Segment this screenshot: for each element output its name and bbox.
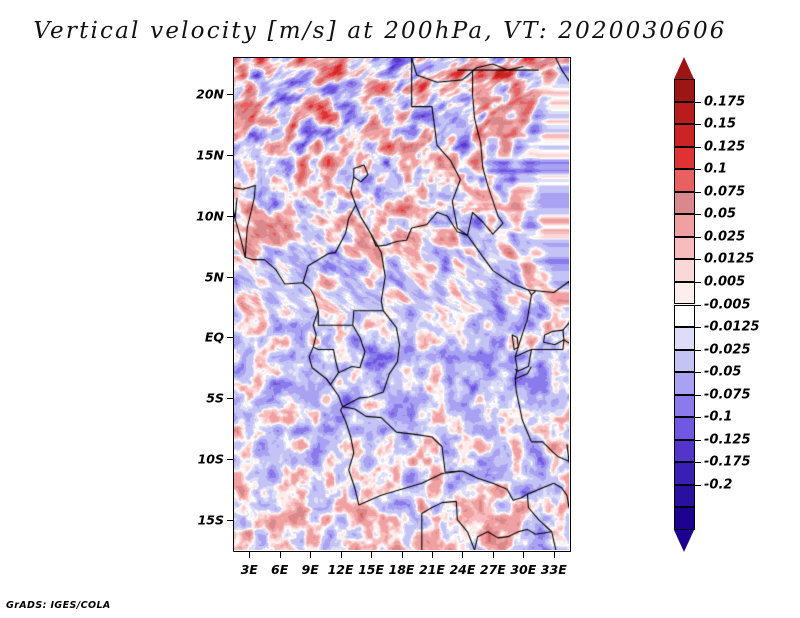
- colorbar-tick: [695, 440, 701, 441]
- colorbar-label: -0.2: [704, 477, 732, 492]
- longitude-tick: [462, 551, 463, 558]
- longitude-label: 24E: [449, 562, 475, 577]
- colorbar-swatch: [674, 417, 695, 440]
- latitude-label: 10S: [198, 451, 224, 466]
- colorbar-label: 0.175: [704, 94, 745, 109]
- longitude-label: 21E: [419, 562, 445, 577]
- colorbar-tick: [695, 350, 701, 351]
- longitude-label: 33E: [541, 562, 567, 577]
- longitude-label: 27E: [480, 562, 506, 577]
- latitude-label: 15S: [198, 512, 224, 527]
- longitude-tick: [554, 551, 555, 558]
- longitude-label: 9E: [302, 562, 319, 577]
- map-plot-area: 20N15N10N5NEQ5S10S15S3E6E9E12E15E18E21E2…: [233, 57, 571, 552]
- colorbar-label: -0.025: [704, 342, 751, 357]
- colorbar-swatch: [674, 124, 695, 147]
- colorbar-label: -0.075: [704, 387, 751, 402]
- longitude-tick: [402, 551, 403, 558]
- vertical-velocity-field: [234, 58, 569, 550]
- latitude-tick: [227, 94, 234, 95]
- longitude-label: 18E: [389, 562, 415, 577]
- longitude-label: 30E: [510, 562, 536, 577]
- colorbar-tick: [695, 372, 701, 373]
- longitude-tick: [280, 551, 281, 558]
- colorbar-label: -0.0125: [704, 320, 760, 335]
- colorbar-label: 0.05: [704, 207, 736, 222]
- colorbar-tick: [695, 147, 701, 148]
- colorbar-tick: [695, 237, 701, 238]
- colorbar-tick: [695, 417, 701, 418]
- longitude-tick: [249, 551, 250, 558]
- longitude-tick: [523, 551, 524, 558]
- latitude-label: EQ: [205, 330, 224, 345]
- colorbar-swatch: [674, 462, 695, 485]
- colorbar-max-arrow: [674, 57, 694, 79]
- latitude-label: 15N: [196, 148, 224, 163]
- page-title: Vertical velocity [m/s] at 200hPa, VT: 2…: [0, 18, 760, 44]
- colorbar-swatch: [674, 327, 695, 350]
- colorbar-label: -0.1: [704, 410, 732, 425]
- colorbar-swatch: [674, 282, 695, 305]
- colorbar-label: -0.005: [704, 297, 751, 312]
- colorbar-label: 0.0125: [704, 252, 754, 267]
- colorbar-label: -0.125: [704, 432, 751, 447]
- colorbar-swatch: [674, 372, 695, 395]
- colorbar-swatch: [674, 147, 695, 170]
- colorbar-label: 0.15: [704, 117, 736, 132]
- attribution-footer: GrADS: IGES/COLA: [6, 600, 111, 611]
- colorbar-label: 0.125: [704, 139, 745, 154]
- colorbar-label: 0.025: [704, 229, 745, 244]
- colorbar-label: -0.05: [704, 365, 741, 380]
- colorbar-swatch: [674, 395, 695, 418]
- colorbar-swatch: [674, 237, 695, 260]
- colorbar-swatch: [674, 259, 695, 282]
- latitude-tick: [227, 216, 234, 217]
- longitude-tick: [371, 551, 372, 558]
- colorbar-tick: [695, 395, 701, 396]
- longitude-tick: [493, 551, 494, 558]
- colorbar-label: 0.1: [704, 162, 727, 177]
- colorbar-tick: [695, 124, 701, 125]
- colorbar-swatch: [674, 305, 695, 328]
- colorbar-tick: [695, 485, 701, 486]
- longitude-label: 15E: [358, 562, 384, 577]
- latitude-tick: [227, 155, 234, 156]
- colorbar-tick: [695, 305, 701, 306]
- latitude-tick: [227, 459, 234, 460]
- colorbar-swatch: [674, 507, 695, 530]
- latitude-label: 10N: [196, 208, 224, 223]
- latitude-tick: [227, 520, 234, 521]
- colorbar: 0.1750.150.1250.10.0750.050.0250.01250.0…: [674, 57, 695, 552]
- latitude-tick: [227, 277, 234, 278]
- longitude-tick: [432, 551, 433, 558]
- colorbar-tick: [695, 327, 701, 328]
- longitude-label: 3E: [241, 562, 258, 577]
- colorbar-swatch: [674, 214, 695, 237]
- latitude-tick: [227, 398, 234, 399]
- colorbar-swatch: [674, 192, 695, 215]
- colorbar-tick: [695, 282, 701, 283]
- longitude-label: 6E: [271, 562, 288, 577]
- longitude-tick: [310, 551, 311, 558]
- colorbar-tick: [695, 192, 701, 193]
- longitude-label: 12E: [328, 562, 354, 577]
- colorbar-tick: [695, 462, 701, 463]
- colorbar-swatch: [674, 485, 695, 508]
- longitude-tick: [341, 551, 342, 558]
- colorbar-swatch: [674, 79, 695, 102]
- colorbar-swatch: [674, 350, 695, 373]
- latitude-label: 5N: [205, 269, 224, 284]
- colorbar-tick: [695, 214, 701, 215]
- colorbar-tick: [695, 169, 701, 170]
- latitude-label: 20N: [196, 87, 224, 102]
- latitude-label: 5S: [206, 391, 224, 406]
- colorbar-label: 0.075: [704, 184, 745, 199]
- colorbar-swatch: [674, 169, 695, 192]
- colorbar-tick: [695, 259, 701, 260]
- colorbar-min-arrow: [674, 530, 694, 552]
- colorbar-swatch: [674, 440, 695, 463]
- colorbar-label: 0.005: [704, 274, 745, 289]
- colorbar-swatch: [674, 102, 695, 125]
- colorbar-tick: [695, 102, 701, 103]
- latitude-tick: [227, 337, 234, 338]
- colorbar-label: -0.175: [704, 455, 751, 470]
